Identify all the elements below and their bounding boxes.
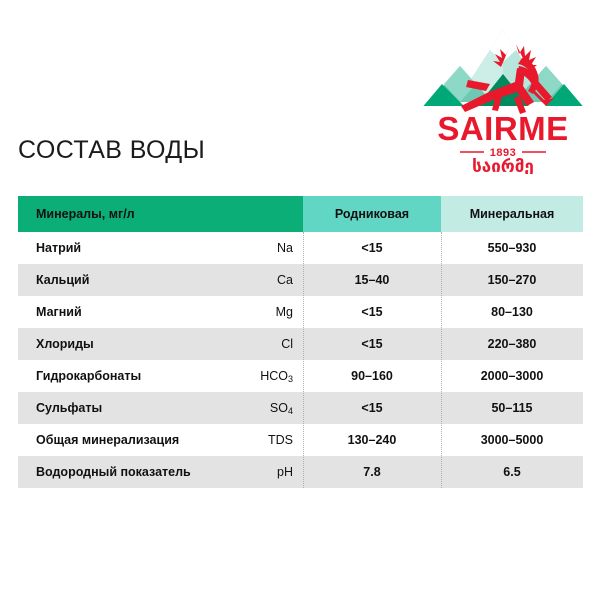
cell-spring-value: 15–40 [303,264,441,296]
cell-mineral-symbol: HCO3 [250,360,303,392]
cell-mineral-symbol: Cl [250,328,303,360]
water-composition-table: Минералы, мг/л Родниковая Минеральная На… [18,196,583,488]
table-row: КальцийCa15–40150–270 [18,264,583,296]
table-header: Минералы, мг/л Родниковая Минеральная [18,196,583,232]
cell-mineral-value: 550–930 [441,232,583,264]
logo-wordmark: SAIRME [437,110,568,147]
column-header-spring: Родниковая [303,196,441,232]
cell-mineral-value: 2000–3000 [441,360,583,392]
water-composition-page: SAIRME 1893 საირმე СОСТАВ ВОДЫ Минералы,… [0,0,600,600]
cell-mineral-symbol: Mg [250,296,303,328]
page-title: СОСТАВ ВОДЫ [18,136,205,165]
cell-mineral-name: Общая минерализация [18,424,250,456]
table-body: НатрийNa<15550–930КальцийCa15–40150–270М… [18,232,583,488]
column-header-mineral: Минеральная [441,196,583,232]
cell-spring-value: 90–160 [303,360,441,392]
table-row: ХлоридыCl<15220–380 [18,328,583,360]
cell-mineral-value: 220–380 [441,328,583,360]
cell-mineral-value: 80–130 [441,296,583,328]
cell-mineral-name: Гидрокарбонаты [18,360,250,392]
table-header-row: Минералы, мг/л Родниковая Минеральная [18,196,583,232]
logo-georgian-name: საირმე [472,157,534,174]
table-row: Общая минерализацияTDS130–2403000–5000 [18,424,583,456]
table-row: НатрийNa<15550–930 [18,232,583,264]
cell-spring-value: <15 [303,232,441,264]
table-row: МагнийMg<1580–130 [18,296,583,328]
cell-mineral-symbol: pH [250,456,303,488]
cell-mineral-name: Натрий [18,232,250,264]
cell-mineral-symbol: SO4 [250,392,303,424]
cell-mineral-name: Сульфаты [18,392,250,424]
column-header-minerals: Минералы, мг/л [18,196,303,232]
cell-mineral-name: Кальций [18,264,250,296]
cell-mineral-value: 150–270 [441,264,583,296]
cell-spring-value: 130–240 [303,424,441,456]
column-divider-2 [441,232,442,488]
cell-mineral-name: Магний [18,296,250,328]
cell-mineral-value: 3000–5000 [441,424,583,456]
table-row: ГидрокарбонатыHCO390–1602000–3000 [18,360,583,392]
cell-spring-value: <15 [303,392,441,424]
cell-mineral-name: Водородный показатель [18,456,250,488]
cell-mineral-name: Хлориды [18,328,250,360]
cell-mineral-symbol: Ca [250,264,303,296]
cell-mineral-symbol: TDS [250,424,303,456]
cell-mineral-value: 6.5 [441,456,583,488]
cell-spring-value: <15 [303,296,441,328]
table-row: СульфатыSO4<1550–115 [18,392,583,424]
table-row: Водородный показательpH7.86.5 [18,456,583,488]
sairme-logo: SAIRME 1893 საირმე [420,22,586,174]
cell-spring-value: <15 [303,328,441,360]
column-divider-1 [303,232,304,488]
cell-mineral-value: 50–115 [441,392,583,424]
cell-mineral-symbol: Na [250,232,303,264]
cell-spring-value: 7.8 [303,456,441,488]
mountain-icon [420,30,586,111]
